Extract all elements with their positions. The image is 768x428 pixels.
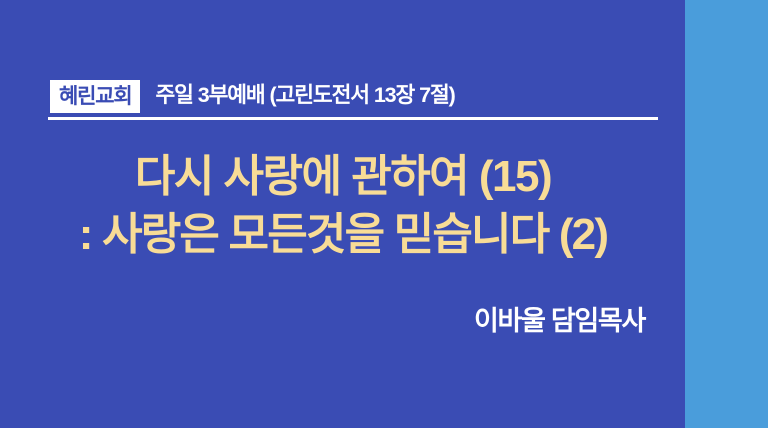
speaker-row: 이바울 담임목사 bbox=[0, 305, 645, 337]
sermon-title-block: 다시 사랑에 관하여 (15) : 사랑은 모든것을 믿습니다 (2) bbox=[0, 148, 686, 264]
sermon-title-line-1: 다시 사랑에 관하여 (15) bbox=[0, 148, 686, 206]
church-name-label: 혜린교회 bbox=[59, 86, 131, 107]
church-name-badge: 혜린교회 bbox=[50, 80, 140, 113]
header-divider bbox=[48, 117, 658, 120]
sermon-title-line-2: : 사랑은 모든것을 믿습니다 (2) bbox=[0, 206, 686, 264]
accent-bar-right bbox=[685, 0, 768, 428]
sermon-title-card: 혜린교회 주일 3부예배 (고린도전서 13장 7절) 다시 사랑에 관하여 (… bbox=[0, 0, 768, 428]
header-row: 혜린교회 주일 3부예배 (고린도전서 13장 7절) bbox=[50, 78, 670, 114]
speaker-name: 이바울 담임목사 bbox=[474, 306, 645, 336]
service-subtitle: 주일 3부예배 (고린도전서 13장 7절) bbox=[155, 85, 454, 107]
